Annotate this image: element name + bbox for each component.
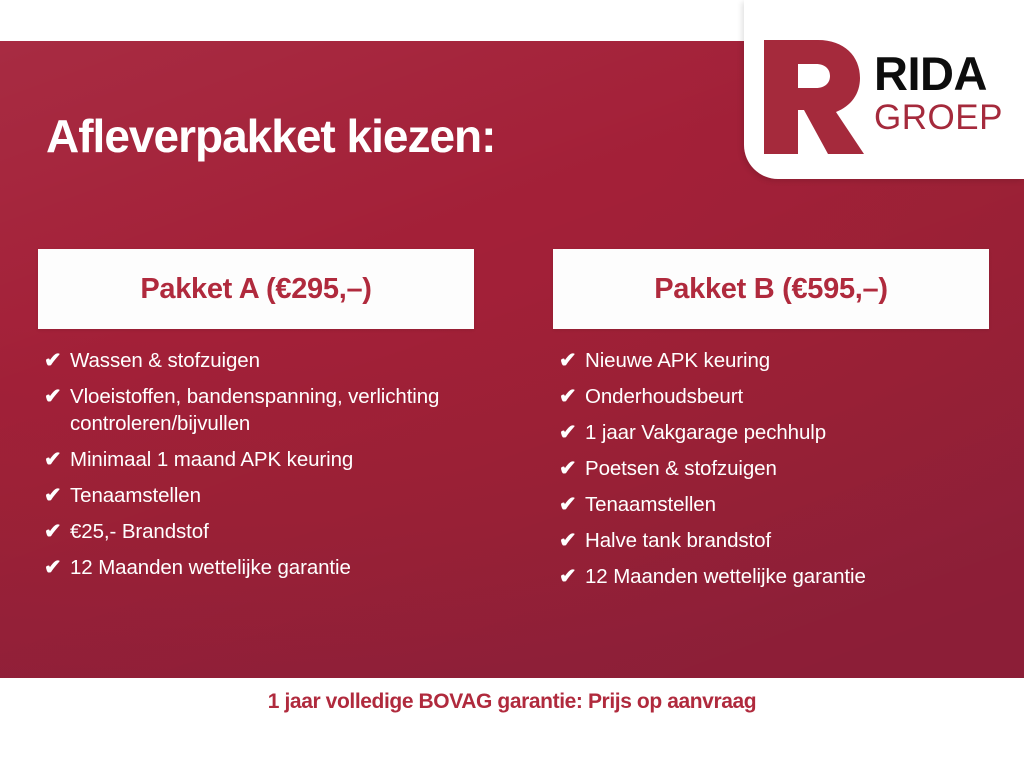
feature-label: 12 Maanden wettelijke garantie [585, 563, 866, 590]
feature-label: Vloeistoffen, bandenspanning, verlichtin… [70, 383, 470, 437]
list-item: ✔ Nieuwe APK keuring [559, 347, 989, 374]
rida-r-monogram-icon [756, 32, 868, 154]
feature-label: Tenaamstellen [585, 491, 716, 518]
feature-label: Onderhoudsbeurt [585, 383, 743, 410]
list-item: ✔ 12 Maanden wettelijke garantie [559, 563, 989, 590]
feature-label: €25,- Brandstof [70, 518, 209, 545]
page-title: Afleverpakket kiezen: [46, 109, 495, 163]
list-item: ✔ Tenaamstellen [44, 482, 474, 509]
feature-label: Halve tank brandstof [585, 527, 771, 554]
package-b-title: Pakket B (€595,–) [654, 273, 888, 306]
check-icon: ✔ [44, 446, 70, 473]
package-b-header: Pakket B (€595,–) [553, 249, 989, 329]
feature-label: Nieuwe APK keuring [585, 347, 770, 374]
list-item: ✔ Onderhoudsbeurt [559, 383, 989, 410]
list-item: ✔ Halve tank brandstof [559, 527, 989, 554]
brand-logo-inner: RIDA GROEP [744, 30, 1024, 155]
footer-note: 1 jaar volledige BOVAG garantie: Prijs o… [268, 690, 756, 714]
feature-label: 1 jaar Vakgarage pechhulp [585, 419, 826, 446]
brand-wordmark: RIDA GROEP [874, 50, 1003, 135]
list-item: ✔ Poetsen & stofzuigen [559, 455, 989, 482]
footer-bar: 1 jaar volledige BOVAG garantie: Prijs o… [0, 678, 1024, 768]
feature-label: Wassen & stofzuigen [70, 347, 260, 374]
check-icon: ✔ [559, 383, 585, 410]
feature-label: Tenaamstellen [70, 482, 201, 509]
brand-name-secondary: GROEP [874, 100, 1003, 135]
list-item: ✔ €25,- Brandstof [44, 518, 474, 545]
check-icon: ✔ [559, 563, 585, 590]
check-icon: ✔ [559, 527, 585, 554]
package-b-feature-list: ✔ Nieuwe APK keuring ✔ Onderhoudsbeurt ✔… [553, 329, 989, 590]
package-a-feature-list: ✔ Wassen & stofzuigen ✔ Vloeistoffen, ba… [38, 329, 474, 581]
check-icon: ✔ [559, 347, 585, 374]
list-item: ✔ Vloeistoffen, bandenspanning, verlicht… [44, 383, 474, 437]
list-item: ✔ Wassen & stofzuigen [44, 347, 474, 374]
check-icon: ✔ [559, 491, 585, 518]
check-icon: ✔ [44, 383, 70, 410]
package-a-title: Pakket A (€295,–) [140, 273, 371, 306]
feature-label: Poetsen & stofzuigen [585, 455, 777, 482]
list-item: ✔ Minimaal 1 maand APK keuring [44, 446, 474, 473]
slide-canvas: RIDA GROEP Afleverpakket kiezen: Pakket … [0, 0, 1024, 768]
check-icon: ✔ [44, 518, 70, 545]
list-item: ✔ 1 jaar Vakgarage pechhulp [559, 419, 989, 446]
brand-logo-panel: RIDA GROEP [744, 0, 1024, 179]
list-item: ✔ Tenaamstellen [559, 491, 989, 518]
feature-label: 12 Maanden wettelijke garantie [70, 554, 351, 581]
check-icon: ✔ [559, 455, 585, 482]
check-icon: ✔ [44, 554, 70, 581]
package-card-a[interactable]: Pakket A (€295,–) ✔ Wassen & stofzuigen … [38, 249, 474, 590]
package-card-b[interactable]: Pakket B (€595,–) ✔ Nieuwe APK keuring ✔… [553, 249, 989, 599]
package-a-header: Pakket A (€295,–) [38, 249, 474, 329]
check-icon: ✔ [559, 419, 585, 446]
check-icon: ✔ [44, 347, 70, 374]
check-icon: ✔ [44, 482, 70, 509]
feature-label: Minimaal 1 maand APK keuring [70, 446, 353, 473]
brand-name-primary: RIDA [874, 50, 1003, 97]
list-item: ✔ 12 Maanden wettelijke garantie [44, 554, 474, 581]
